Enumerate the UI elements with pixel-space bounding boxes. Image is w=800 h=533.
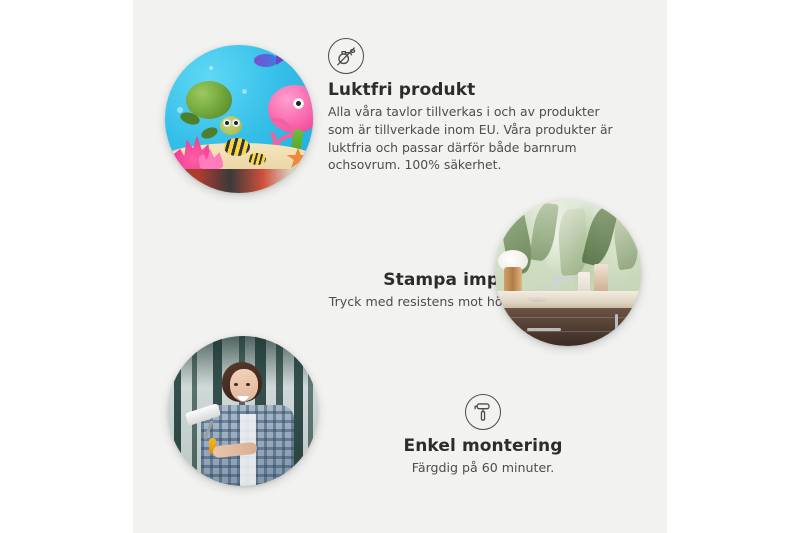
feature-odour-free: Luktfri produkt Alla våra tavlor tillver…: [328, 38, 628, 174]
yellow-fish: [248, 153, 266, 165]
soap-dish: [527, 295, 547, 302]
toiletry-bottle: [594, 264, 608, 292]
paint-roller-icon: [465, 394, 501, 430]
countertop: [495, 291, 641, 309]
ocean-mural-image: [165, 45, 313, 193]
feature-easy-mounting: Enkel montering Färgdig på 60 minuter.: [333, 394, 633, 477]
blue-fish: [254, 54, 278, 67]
feature-title: Enkel montering: [333, 436, 633, 456]
wooden-vanity: [495, 308, 641, 346]
cabinet-handle: [615, 314, 618, 340]
woman-eye: [246, 383, 250, 386]
room-strip: [165, 169, 313, 193]
content-panel: Luktfri produkt Alla våra tavlor tillver…: [133, 0, 667, 533]
feature-description: Färgdig på 60 minuter.: [333, 459, 633, 477]
woman-eye: [234, 383, 238, 386]
screenshot-root: Luktfri produkt Alla våra tavlor tillver…: [0, 0, 800, 533]
feature-title: Luktfri produkt: [328, 80, 628, 100]
feature-description: Alla våra tavlor tillverkas i och av pro…: [328, 103, 620, 173]
forest-mural-image: [168, 336, 318, 486]
turtle-eye: [232, 119, 240, 127]
bathroom-mural-image: [495, 200, 641, 346]
no-odour-icon: [328, 38, 364, 74]
turtle-eye: [223, 119, 231, 127]
